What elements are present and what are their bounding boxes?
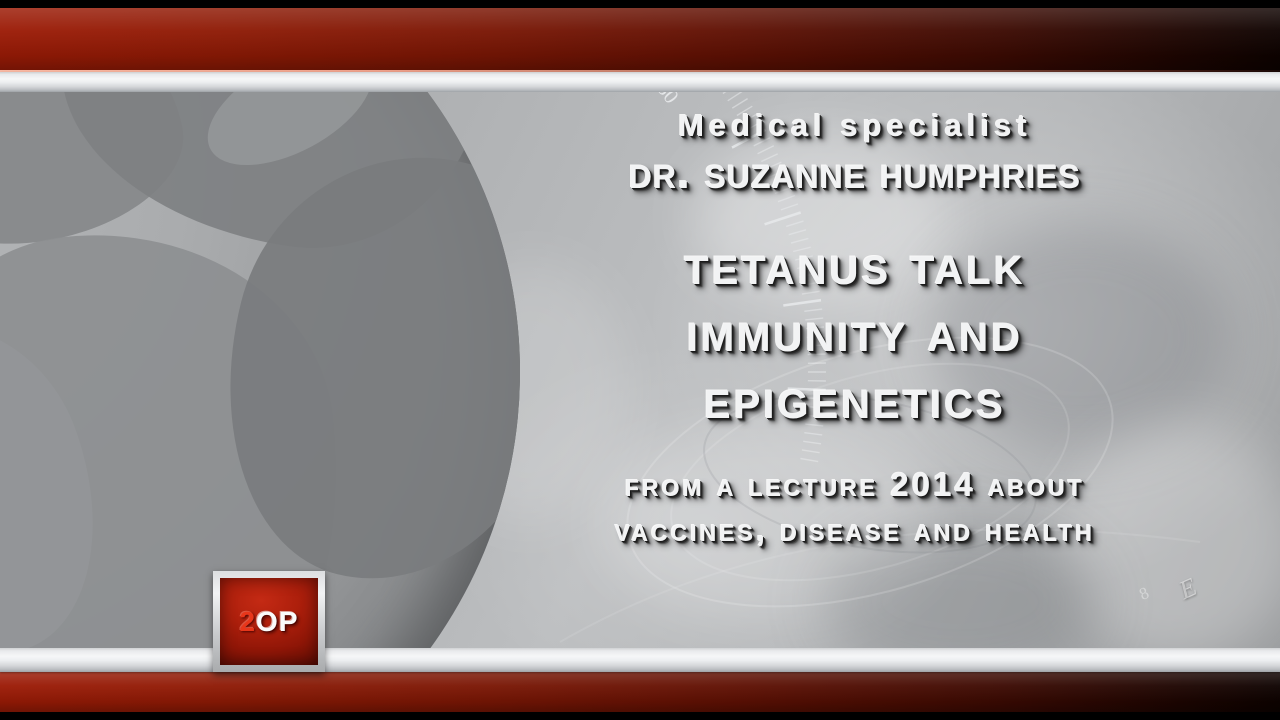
letterbox-top — [0, 0, 1280, 8]
title-text-block: Medical specialist Dr. Suzanne Humphries… — [430, 92, 1280, 648]
logo-number: 2 — [239, 606, 256, 637]
title-line-3: epigenetics — [430, 371, 1280, 428]
chrome-bar-top — [0, 72, 1280, 92]
title-line-2: immunity and — [430, 304, 1280, 361]
banner-top — [0, 8, 1280, 72]
title-card-stage: 20304050607080 8 E Medical specialist Dr… — [0, 0, 1280, 720]
content-panel: 20304050607080 8 E Medical specialist Dr… — [0, 92, 1280, 648]
kicker-label: Medical specialist — [430, 110, 1280, 141]
channel-logo-badge[interactable]: 2OP — [213, 571, 325, 672]
banner-bottom — [0, 672, 1280, 712]
speaker-name: Dr. Suzanne Humphries — [430, 149, 1280, 195]
subtitle-line-1: From a lecture 2014 about — [430, 468, 1280, 501]
subtitle-line-2: vaccines, disease and health — [430, 513, 1280, 546]
logo-wordmark: 2OP — [239, 608, 298, 636]
letterbox-bottom — [0, 712, 1280, 720]
logo-word: OP — [256, 606, 298, 637]
title-line-1: Tetanus talk — [430, 237, 1280, 294]
logo-inner-panel: 2OP — [220, 578, 318, 665]
chrome-bar-bottom — [0, 648, 1280, 672]
